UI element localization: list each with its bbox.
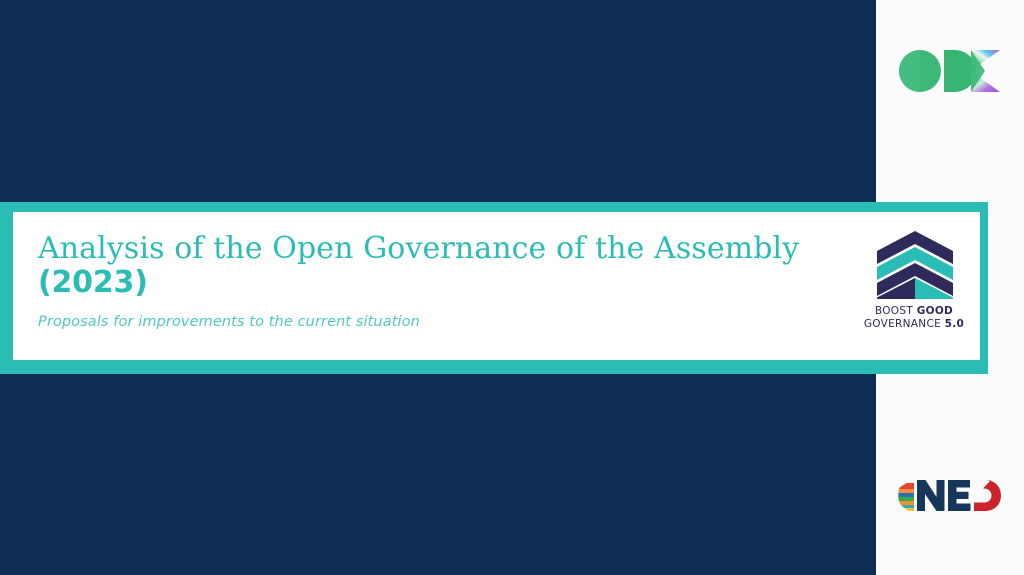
chevron-stack-icon: [874, 231, 956, 299]
ned-flag-icon: [898, 483, 914, 511]
page-title-year: (2023): [38, 266, 848, 300]
page-subtitle: Proposals for improvements to the curren…: [38, 313, 848, 331]
bgg-caption-line-2: GOVERNANCE 5.0: [858, 318, 970, 331]
slide: Analysis of the Open Governance of the A…: [0, 0, 1024, 575]
bgg-good-text: GOOD: [917, 305, 953, 317]
odx-logo: [898, 48, 1002, 94]
boost-good-governance-logo: BOOST GOOD GOVERNANCE 5.0: [858, 231, 970, 339]
bgg-caption-line-1: BOOST GOOD: [858, 305, 970, 318]
bgg-governance-text: GOVERNANCE: [864, 318, 945, 330]
boost-good-governance-caption: BOOST GOOD GOVERNANCE 5.0: [858, 305, 970, 331]
title-text-block: Analysis of the Open Governance of the A…: [38, 232, 848, 331]
bgg-boost-text: BOOST: [875, 305, 917, 317]
bgg-version-text: 5.0: [945, 318, 965, 330]
ned-logo: [898, 478, 1002, 512]
page-title: Analysis of the Open Governance of the A…: [38, 232, 848, 266]
